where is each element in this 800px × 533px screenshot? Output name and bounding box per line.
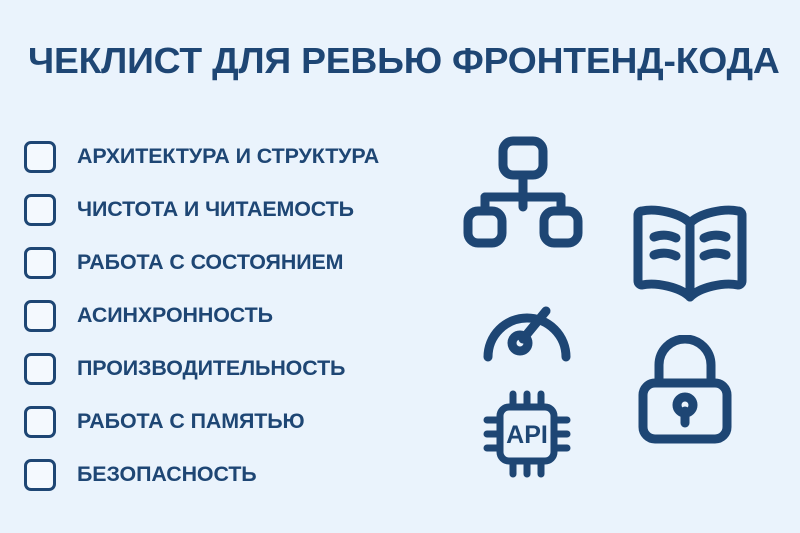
checklist-item-memory[interactable]: РАБОТА С ПАМЯТЬЮ — [24, 395, 444, 448]
checklist-item-label: ЧИСТОТА И ЧИТАЕМОСТЬ — [77, 198, 354, 222]
checkbox-memory[interactable] — [24, 406, 56, 438]
checklist-item-label: РАБОТА С СОСТОЯНИЕМ — [77, 251, 343, 275]
open-book-icon — [630, 203, 750, 303]
checklist-item-label: АСИНХРОННОСТЬ — [77, 304, 273, 328]
checklist-item-architecture[interactable]: АРХИТЕКТУРА И СТРУКТУРА — [24, 130, 444, 183]
checklist-item-label: АРХИТЕКТУРА И СТРУКТУРА — [77, 145, 379, 169]
checklist-item-async[interactable]: АСИНХРОННОСТЬ — [24, 289, 444, 342]
checkbox-performance[interactable] — [24, 353, 56, 385]
page-title: ЧЕКЛИСТ ДЛЯ РЕВЬЮ ФРОНТЕНД-КОДА — [28, 42, 784, 80]
checklist-item-label: РАБОТА С ПАМЯТЬЮ — [77, 410, 305, 434]
checklist-item-performance[interactable]: ПРОИЗВОДИТЕЛЬНОСТЬ — [24, 342, 444, 395]
checkbox-security[interactable] — [24, 459, 56, 491]
lock-icon — [636, 335, 734, 445]
api-chip-label: API — [506, 421, 548, 449]
checklist-item-state[interactable]: РАБОТА С СОСТОЯНИЕМ — [24, 236, 444, 289]
checklist-poster: ЧЕКЛИСТ ДЛЯ РЕВЬЮ ФРОНТЕНД-КОДА АРХИТЕКТ… — [0, 0, 800, 533]
checklist-item-label: БЕЗОПАСНОСТЬ — [77, 463, 257, 487]
api-chip-icon: API — [481, 388, 573, 480]
checkbox-state[interactable] — [24, 247, 56, 279]
hierarchy-icon — [463, 135, 583, 250]
checklist-item-security[interactable]: БЕЗОПАСНОСТЬ — [24, 448, 444, 501]
checklist: АРХИТЕКТУРА И СТРУКТУРА ЧИСТОТА И ЧИТАЕМ… — [24, 130, 444, 501]
checkbox-async[interactable] — [24, 300, 56, 332]
gauge-icon — [478, 285, 576, 363]
checklist-item-label: ПРОИЗВОДИТЕЛЬНОСТЬ — [77, 357, 345, 381]
checklist-item-cleanliness[interactable]: ЧИСТОТА И ЧИТАЕМОСТЬ — [24, 183, 444, 236]
checkbox-cleanliness[interactable] — [24, 194, 56, 226]
checkbox-architecture[interactable] — [24, 141, 56, 173]
